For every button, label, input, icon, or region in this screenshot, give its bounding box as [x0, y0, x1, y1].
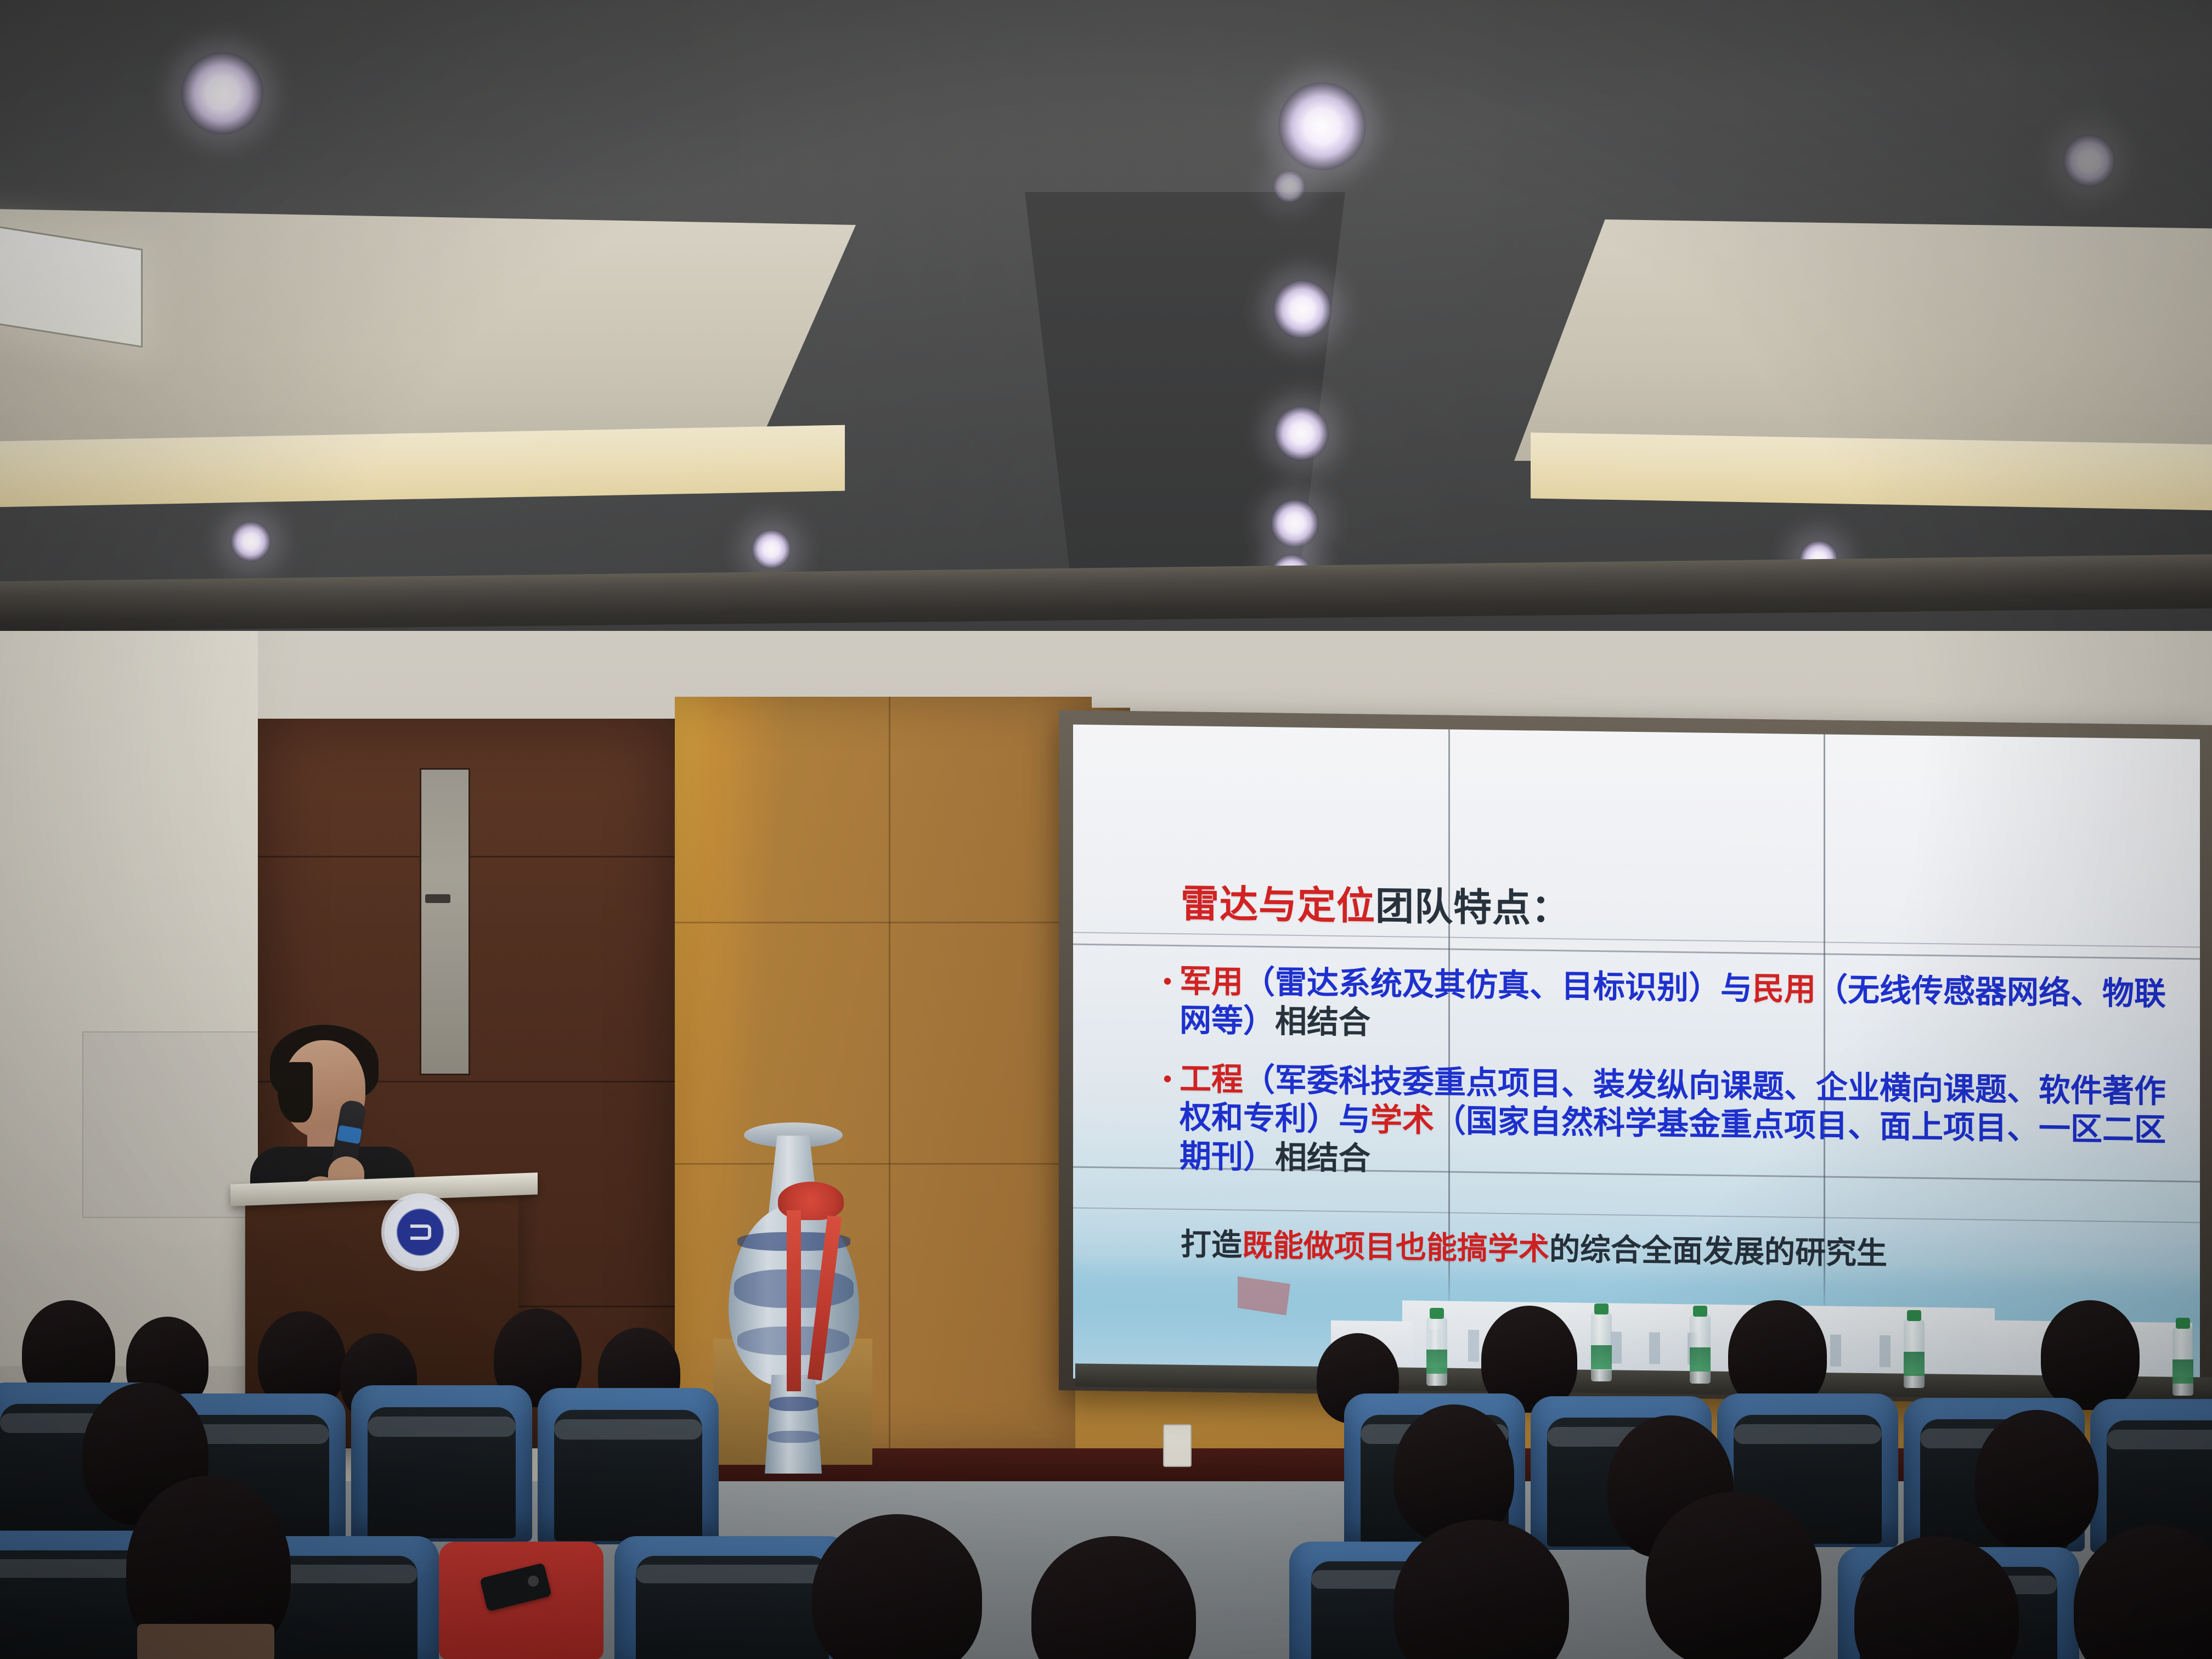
emblem-mark [410, 1224, 431, 1240]
bullet-seg-dark: 相结合 [1275, 1002, 1370, 1041]
audience-head [1975, 1410, 2098, 1550]
slide-bullet-item: • 工程（军委科技委重点项目、装发纵向课题、企业横向课题、软件著作权和专利）与学… [1155, 1059, 2187, 1189]
downlight-icon [1273, 280, 1332, 339]
audience-head [2041, 1300, 2140, 1410]
door-handle[interactable] [425, 894, 450, 903]
downlight-icon [1278, 82, 1366, 170]
downlight-icon [752, 529, 791, 569]
porcelain-vase [725, 1122, 862, 1474]
bottle-cap-icon [1693, 1306, 1707, 1317]
slide-title-rest: 团队特点： [1375, 884, 1570, 932]
auditorium-seat[interactable] [351, 1385, 532, 1542]
presentation-slide[interactable]: 雷达与定位团队特点： • 军用（雷达系统及其仿真、目标识别）与民用（无线传感器网… [1073, 725, 2200, 1393]
bottle-label [1426, 1350, 1447, 1374]
summary-highlight: 既能做项目也能搞学术 [1242, 1228, 1549, 1267]
bottle-cap-icon [2176, 1318, 2190, 1329]
bottle-label [1904, 1352, 1925, 1376]
auditorium-seat[interactable] [538, 1388, 719, 1544]
video-wall-frame: 雷达与定位团队特点： • 军用（雷达系统及其仿真、目标识别）与民用（无线传感器网… [1059, 710, 2212, 1406]
flag-icon [1238, 1277, 1290, 1316]
bullet-seg-blue: （雷达系统及其仿真、目标识别）与 [1243, 963, 1752, 1007]
bullet-seg-dark: 相结合 [1275, 1138, 1370, 1177]
downlight-icon [1273, 170, 1306, 203]
downlight-icon [1274, 406, 1329, 461]
bottle-label [1690, 1347, 1711, 1372]
screen-bezel-seam [1073, 944, 2200, 960]
bottle-label [2172, 1359, 2193, 1384]
bullet-marker-icon: • [1155, 962, 1180, 1040]
wall-left-plaster [0, 631, 258, 1366]
downlight-icon [1271, 499, 1319, 548]
ribbon-tail [787, 1210, 801, 1391]
light-switch-plate[interactable] [1163, 1424, 1192, 1467]
bottle-cap-icon [1907, 1310, 1921, 1321]
ceiling-soffit-right [1514, 219, 2212, 461]
downlight-icon [181, 52, 263, 134]
bullet-text: 工程（军委科技委重点项目、装发纵向课题、企业横向课题、软件著作权和专利）与学术（… [1180, 1059, 2187, 1189]
bullet-seg-red: 学术 [1370, 1101, 1434, 1139]
slide-summary: 打造既能做项目也能搞学术的综合全面发展的研究生 [1181, 1220, 1887, 1273]
bullet-text: 军用（雷达系统及其仿真、目标识别）与民用（无线传感器网络、物联网等）相结合 [1180, 962, 2187, 1053]
bullet-seg-red: 工程 [1180, 1060, 1243, 1098]
summary-suffix: 的综合全面发展的研究生 [1549, 1232, 1887, 1272]
bullet-seg-red: 军用 [1180, 962, 1243, 1001]
lecture-hall-photo: 雷达与定位团队特点： • 军用（雷达系统及其仿真、目标识别）与民用（无线传感器网… [0, 0, 2212, 1659]
slide-bullet-item: • 军用（雷达系统及其仿真、目标识别）与民用（无线传感器网络、物联网等）相结合 [1155, 962, 2187, 1053]
presenter-hair-side [278, 1062, 313, 1122]
summary-prefix: 打造 [1181, 1227, 1242, 1263]
bottle-cap-icon [1594, 1304, 1609, 1314]
downlight-icon [230, 521, 271, 562]
bullet-marker-icon: • [1155, 1059, 1180, 1176]
slide-title-highlight: 雷达与定位 [1181, 881, 1375, 929]
cove-light-right [1531, 432, 2212, 511]
downlight-icon [2063, 134, 2115, 187]
audience-head [1646, 1492, 1821, 1659]
bullet-seg-red: 民用 [1752, 970, 1816, 1008]
bottle-label [1591, 1345, 1612, 1369]
slide-bullet-list: • 军用（雷达系统及其仿真、目标识别）与民用（无线传感器网络、物联网等）相结合 … [1155, 962, 2187, 1209]
slide-title: 雷达与定位团队特点： [1181, 873, 1570, 933]
bottle-cap-icon [1430, 1308, 1444, 1319]
